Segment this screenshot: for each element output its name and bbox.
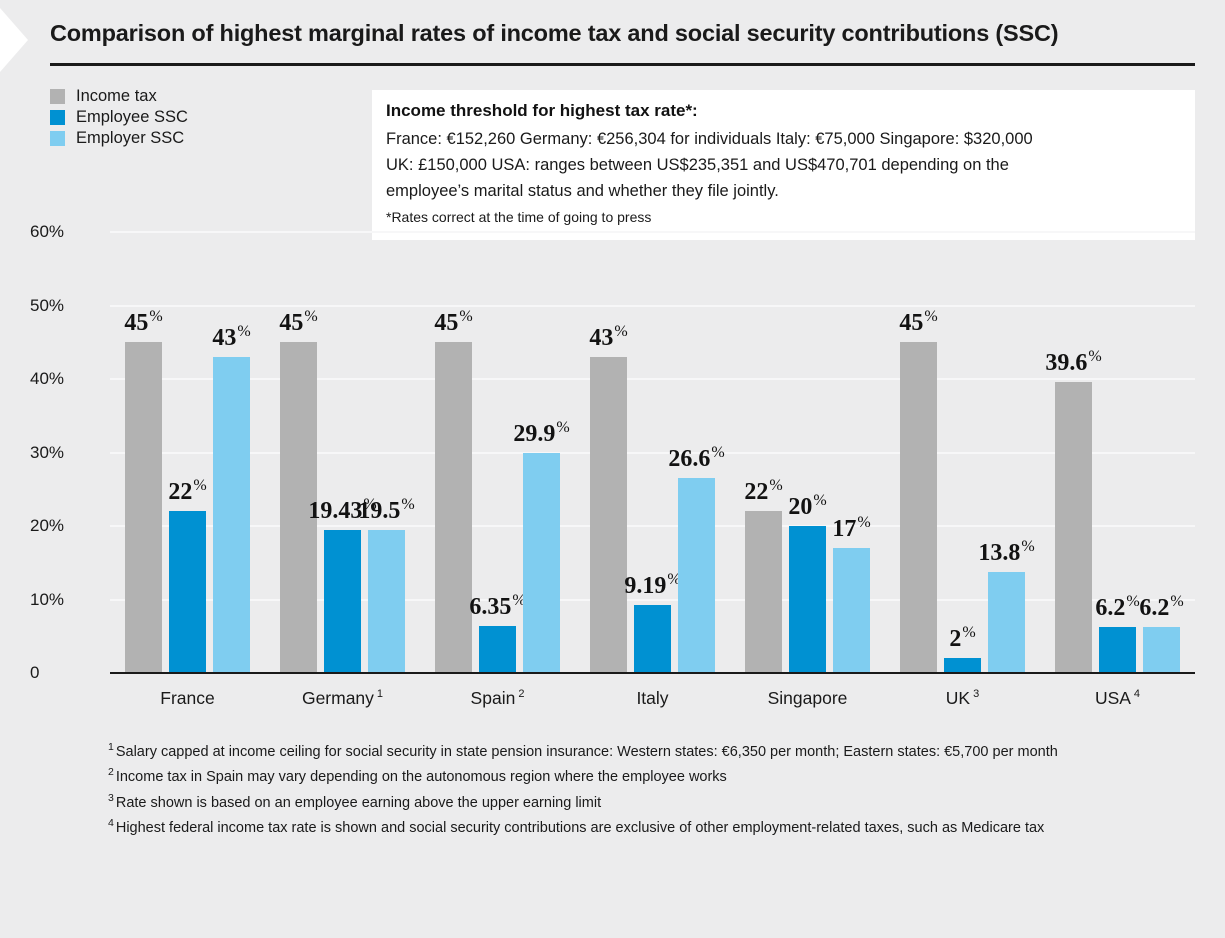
bar-group-singapore: 22%20%17%	[745, 232, 870, 673]
x-axis-label-spain: Spain2	[471, 688, 525, 709]
bar-value: 6.2	[1139, 595, 1169, 621]
percent-symbol: %	[193, 477, 206, 494]
x-axis-label-uk: UK3	[946, 688, 979, 709]
percent-symbol: %	[1021, 538, 1034, 555]
footnote-marker: 3	[108, 792, 114, 804]
y-axis-tick-label: 40%	[30, 369, 110, 389]
footnote-marker: 1	[108, 741, 114, 753]
legend-item-label: Employee SSC	[76, 107, 188, 128]
percent-symbol: %	[813, 492, 826, 509]
percent-symbol: %	[1088, 348, 1101, 365]
legend-swatch-icon	[50, 89, 65, 104]
bar-italy-income-tax[interactable]	[590, 357, 627, 673]
bar-value: 43	[212, 325, 236, 351]
percent-symbol: %	[556, 419, 569, 436]
footnote-text: Income tax in Spain may vary depending o…	[116, 769, 727, 785]
bar-value-label: 9.19%	[624, 571, 680, 600]
legend-item-2: Employer SSC	[50, 128, 188, 149]
bar-value: 13.8	[978, 540, 1020, 566]
legend-swatch-icon	[50, 110, 65, 125]
bar-uk-employee-ssc[interactable]	[944, 658, 981, 673]
y-axis-tick-label: 0	[30, 663, 110, 683]
bar-value-label: 22%	[744, 477, 782, 506]
bar-value-label: 45%	[434, 308, 472, 337]
footnote-4: 4Highest federal income tax rate is show…	[108, 814, 1108, 838]
x-axis-label-footnote-marker: 1	[377, 688, 383, 700]
bar-value: 6.35	[469, 594, 511, 620]
x-axis-label-text: Spain	[471, 688, 516, 708]
bar-italy-employee-ssc[interactable]	[634, 605, 671, 673]
y-axis-tick-label: 30%	[30, 443, 110, 463]
y-axis-tick-label: 10%	[30, 590, 110, 610]
y-axis-tick-label: 20%	[30, 516, 110, 536]
bar-value-label: 45%	[124, 308, 162, 337]
bar-germany-employee-ssc[interactable]	[324, 530, 361, 673]
legend-item-label: Income tax	[76, 86, 157, 107]
bar-france-employer-ssc[interactable]	[213, 357, 250, 673]
bar-value: 45	[124, 310, 148, 336]
percent-symbol: %	[304, 308, 317, 325]
bar-group-italy: 43%9.19%26.6%	[590, 232, 715, 673]
bar-group-france: 45%22%43%	[125, 232, 250, 673]
x-axis-label-usa: USA4	[1095, 688, 1140, 709]
bar-france-income-tax[interactable]	[125, 342, 162, 673]
footnote-text: Salary capped at income ceiling for soci…	[116, 744, 1058, 760]
bar-value: 22	[744, 479, 768, 505]
bar-uk-income-tax[interactable]	[900, 342, 937, 673]
bar-value-label: 26.6%	[668, 444, 724, 473]
percent-symbol: %	[857, 514, 870, 531]
bar-value-label: 6.2%	[1139, 593, 1183, 622]
x-axis-label-text: France	[160, 688, 214, 708]
bar-singapore-employee-ssc[interactable]	[789, 526, 826, 673]
bar-value-label: 43%	[212, 323, 250, 352]
info-box-line-2: UK: £150,000 USA: ranges between US$235,…	[386, 152, 1181, 178]
bar-usa-employee-ssc[interactable]	[1099, 627, 1136, 673]
x-axis-label-france: France	[160, 688, 214, 709]
bar-value: 19.43	[308, 498, 362, 524]
bar-value-label: 43%	[589, 323, 627, 352]
bar-spain-employee-ssc[interactable]	[479, 626, 516, 673]
bar-value: 45	[434, 310, 458, 336]
footnote-2: 2Income tax in Spain may vary depending …	[108, 763, 1108, 787]
footnote-text: Rate shown is based on an employee earni…	[116, 794, 601, 810]
info-box-line-1: France: €152,260 Germany: €256,304 for i…	[386, 126, 1181, 152]
bar-group-uk: 45%2%13.8%	[900, 232, 1025, 673]
bar-spain-income-tax[interactable]	[435, 342, 472, 673]
x-axis-label-footnote-marker: 4	[1134, 688, 1140, 700]
bar-singapore-employer-ssc[interactable]	[833, 548, 870, 673]
legend-item-0: Income tax	[50, 86, 188, 107]
bar-value-label: 29.9%	[513, 419, 569, 448]
y-axis-tick-label: 60%	[30, 222, 110, 242]
bar-value: 43	[589, 325, 613, 351]
bar-value: 29.9	[513, 421, 555, 447]
footnote-1: 1Salary capped at income ceiling for soc…	[108, 738, 1108, 762]
header-arrow-icon	[0, 8, 28, 72]
x-axis-label-singapore: Singapore	[768, 688, 848, 709]
percent-symbol: %	[924, 308, 937, 325]
bar-value: 9.19	[624, 573, 666, 599]
y-axis-tick-label: 50%	[30, 296, 110, 316]
percent-symbol: %	[459, 308, 472, 325]
x-axis-label-text: Singapore	[768, 688, 848, 708]
footnotes: 1Salary capped at income ceiling for soc…	[108, 738, 1108, 839]
bar-value-label: 20%	[788, 492, 826, 521]
footnote-text: Highest federal income tax rate is shown…	[116, 820, 1044, 836]
bar-singapore-income-tax[interactable]	[745, 511, 782, 673]
bar-value: 2	[949, 626, 961, 652]
x-axis-label-italy: Italy	[636, 688, 668, 709]
percent-symbol: %	[711, 444, 724, 461]
bar-value: 26.6	[668, 446, 710, 472]
footnote-marker: 2	[108, 766, 114, 778]
bar-value-label: 17%	[832, 514, 870, 543]
x-axis-label-germany: Germany1	[302, 688, 383, 709]
bar-spain-employer-ssc[interactable]	[523, 453, 560, 673]
bar-france-employee-ssc[interactable]	[169, 511, 206, 673]
bar-value-label: 45%	[279, 308, 317, 337]
bar-value-label: 45%	[899, 308, 937, 337]
bar-value: 19.5	[358, 498, 400, 524]
x-axis-label-text: Germany	[302, 688, 374, 708]
bar-value: 6.2	[1095, 595, 1125, 621]
bar-chart-plot-area: 010%20%30%40%50%60%45%22%43%45%19.43%19.…	[110, 232, 1195, 673]
x-axis-label-text: Italy	[636, 688, 668, 708]
title-divider	[50, 63, 1195, 66]
bar-value: 17	[832, 516, 856, 542]
bar-value-label: 6.2%	[1095, 593, 1139, 622]
info-box-title: Income threshold for highest tax rate*:	[386, 101, 1181, 121]
bar-group-usa: 39.6%6.2%6.2%	[1055, 232, 1180, 673]
page-title: Comparison of highest marginal rates of …	[50, 20, 1190, 47]
percent-symbol: %	[149, 308, 162, 325]
x-axis-label-text: USA	[1095, 688, 1131, 708]
bar-value-label: 22%	[168, 477, 206, 506]
percent-symbol: %	[237, 323, 250, 340]
bar-value-label: 19.5%	[358, 496, 414, 525]
bar-usa-employer-ssc[interactable]	[1143, 627, 1180, 673]
bar-value: 45	[899, 310, 923, 336]
bar-value: 39.6	[1045, 350, 1087, 376]
x-axis-line	[110, 672, 1195, 674]
bar-uk-employer-ssc[interactable]	[988, 572, 1025, 673]
footnote-marker: 4	[108, 817, 114, 829]
percent-symbol: %	[962, 624, 975, 641]
percent-symbol: %	[1170, 593, 1183, 610]
info-box-note: *Rates correct at the time of going to p…	[386, 209, 1181, 225]
percent-symbol: %	[614, 323, 627, 340]
footnote-3: 3Rate shown is based on an employee earn…	[108, 789, 1108, 813]
percent-symbol: %	[769, 477, 782, 494]
bar-value: 20	[788, 494, 812, 520]
percent-symbol: %	[1126, 593, 1139, 610]
legend-item-label: Employer SSC	[76, 128, 184, 149]
info-box: Income threshold for highest tax rate*: …	[372, 90, 1195, 240]
bar-value-label: 2%	[949, 624, 975, 653]
x-axis-label-text: UK	[946, 688, 970, 708]
x-axis-label-footnote-marker: 2	[518, 688, 524, 700]
bar-germany-employer-ssc[interactable]	[368, 530, 405, 673]
bar-value-label: 6.35%	[469, 592, 525, 621]
x-axis-label-footnote-marker: 3	[973, 688, 979, 700]
bar-italy-employer-ssc[interactable]	[678, 478, 715, 674]
bar-value-label: 39.6%	[1045, 348, 1101, 377]
bar-usa-income-tax[interactable]	[1055, 382, 1092, 673]
bar-value: 45	[279, 310, 303, 336]
bar-group-spain: 45%6.35%29.9%	[435, 232, 560, 673]
percent-symbol: %	[401, 496, 414, 513]
bar-value-label: 13.8%	[978, 538, 1034, 567]
chart-legend: Income taxEmployee SSCEmployer SSC	[50, 86, 188, 149]
legend-swatch-icon	[50, 131, 65, 146]
legend-item-1: Employee SSC	[50, 107, 188, 128]
info-box-line-3: employee’s marital status and whether th…	[386, 178, 1181, 204]
bar-value: 22	[168, 479, 192, 505]
bar-group-germany: 45%19.43%19.5%	[280, 232, 405, 673]
